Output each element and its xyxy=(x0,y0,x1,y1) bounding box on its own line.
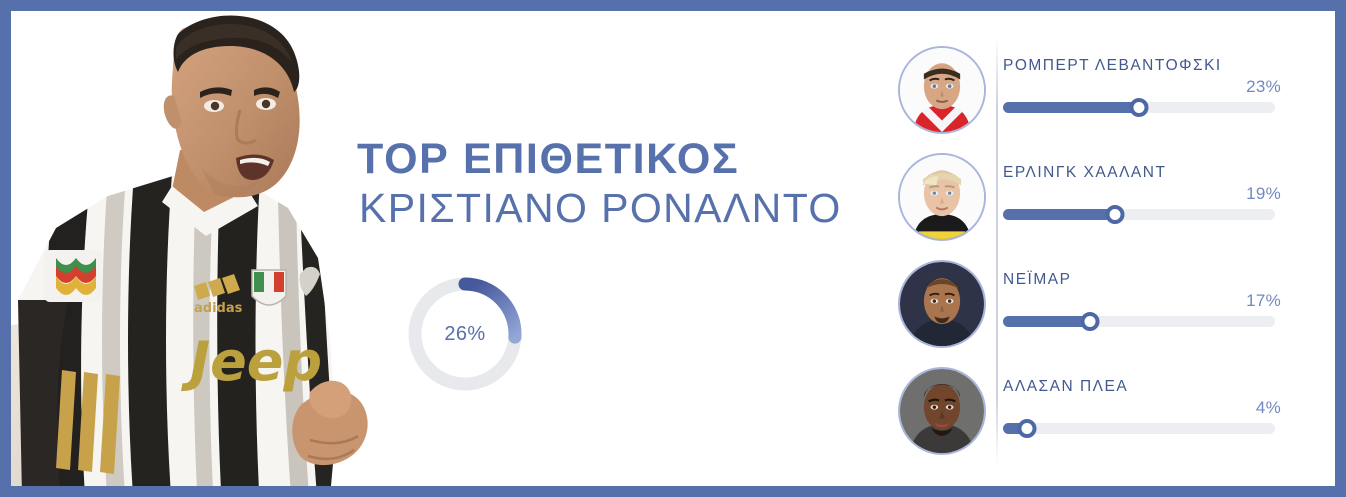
list-item[interactable]: ΝΕΪΜΑΡ 17% xyxy=(894,252,1294,359)
player-percent: 4% xyxy=(1003,397,1283,419)
page-title: ΤΟΡ ΕΠΙΘΕΤΙΚΟΣ xyxy=(357,134,857,184)
row-body: ΕΡΛΙΝΓΚ ΧΑΑΛΑΝΤ 19% xyxy=(1003,163,1283,221)
donut-gauge: 26% xyxy=(405,274,525,394)
avatar xyxy=(898,260,986,348)
player-percent: 17% xyxy=(1003,290,1283,312)
slider-fill xyxy=(1003,102,1139,113)
infographic-frame: adidas Jeep xyxy=(0,0,1346,497)
progress-slider[interactable] xyxy=(1003,314,1275,328)
player-percent: 23% xyxy=(1003,76,1283,98)
slider-knob[interactable] xyxy=(1130,98,1149,117)
slider-knob[interactable] xyxy=(1018,419,1037,438)
ranking-list: ΡΟΜΠΕΡΤ ΛΕΒΑΝΤΟΦΣΚΙ 23% xyxy=(894,38,1294,468)
page-subtitle: ΚΡΙΣΤΙΑΝΟ ΡΟΝΑΛΝΤΟ xyxy=(357,184,857,232)
svg-text:adidas: adidas xyxy=(194,301,243,316)
row-body: ΡΟΜΠΕΡΤ ΛΕΒΑΝΤΟΦΣΚΙ 23% xyxy=(1003,56,1283,114)
list-item[interactable]: ΕΡΛΙΝΓΚ ΧΑΑΛΑΝΤ 19% xyxy=(894,145,1294,252)
player-name: ΕΡΛΙΝΓΚ ΧΑΑΛΑΝΤ xyxy=(1003,163,1283,183)
infographic-canvas: adidas Jeep xyxy=(0,0,1346,497)
player-name: ΝΕΪΜΑΡ xyxy=(1003,270,1283,290)
progress-slider[interactable] xyxy=(1003,207,1275,221)
row-body: ΑΛΑΣΑΝ ΠΛΕΑ 4% xyxy=(1003,377,1283,435)
avatar xyxy=(898,367,986,455)
title-block: ΤΟΡ ΕΠΙΘΕΤΙΚΟΣ ΚΡΙΣΤΙΑΝΟ ΡΟΝΑΛΝΤΟ xyxy=(357,134,857,232)
list-item[interactable]: ΑΛΑΣΑΝ ΠΛΕΑ 4% xyxy=(894,359,1294,466)
hero-player-photo: adidas Jeep xyxy=(0,0,410,497)
slider-knob[interactable] xyxy=(1081,312,1100,331)
player-name: ΡΟΜΠΕΡΤ ΛΕΒΑΝΤΟΦΣΚΙ xyxy=(1003,56,1283,76)
avatar xyxy=(898,46,986,134)
player-percent: 19% xyxy=(1003,183,1283,205)
slider-fill xyxy=(1003,316,1090,327)
gauge-value-label: 26% xyxy=(405,274,525,394)
list-item[interactable]: ΡΟΜΠΕΡΤ ΛΕΒΑΝΤΟΦΣΚΙ 23% xyxy=(894,38,1294,145)
slider-fill xyxy=(1003,209,1115,220)
svg-text:Jeep: Jeep xyxy=(181,330,322,393)
slider-knob[interactable] xyxy=(1105,205,1124,224)
row-body: ΝΕΪΜΑΡ 17% xyxy=(1003,270,1283,328)
player-name: ΑΛΑΣΑΝ ΠΛΕΑ xyxy=(1003,377,1283,397)
progress-slider[interactable] xyxy=(1003,421,1275,435)
slider-track[interactable] xyxy=(1003,423,1275,434)
avatar xyxy=(898,153,986,241)
progress-slider[interactable] xyxy=(1003,100,1275,114)
